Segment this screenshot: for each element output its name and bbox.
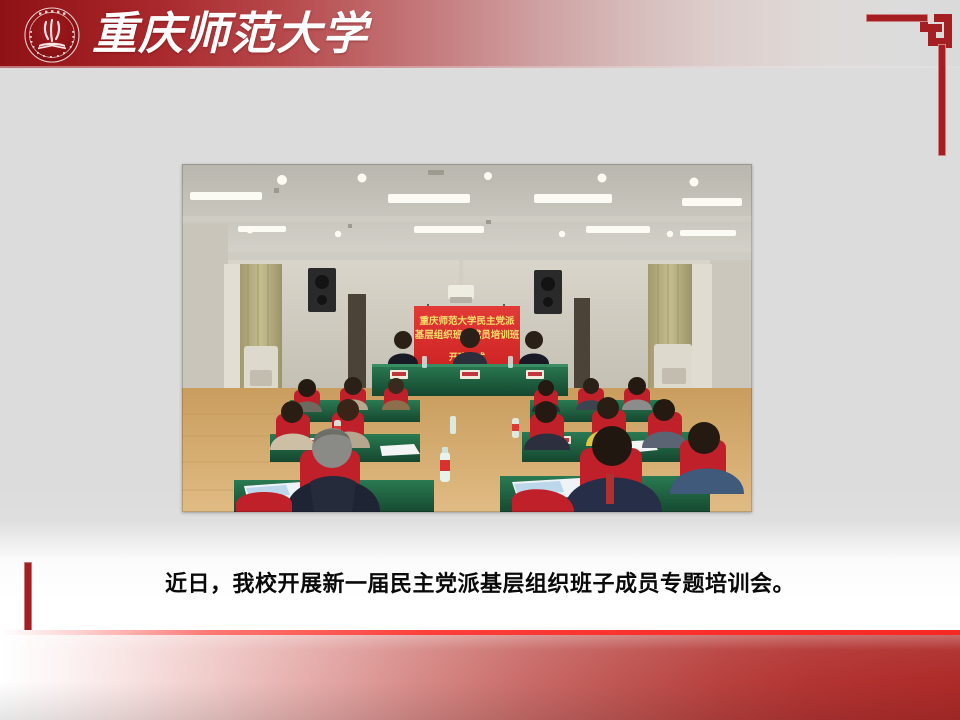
photo-caption: 近日，我校开展新一届民主党派基层组织班子成员专题培训会。: [0, 566, 960, 598]
university-logo: [22, 6, 82, 64]
slide-root: 重庆师范大学: [0, 0, 960, 720]
svg-text:重庆师范大学民主党派: 重庆师范大学民主党派: [419, 315, 515, 327]
footer-banner: [0, 635, 960, 720]
photo-frame: 重庆师范大学民主党派 基层组织班子成员培训班 开班仪式 2023年10月: [182, 164, 752, 512]
corner-ornament-top-right: [866, 8, 952, 160]
university-name: 重庆师范大学: [92, 4, 342, 64]
meeting-photo: 重庆师范大学民主党派 基层组织班子成员培训班 开班仪式 2023年10月: [182, 164, 752, 512]
